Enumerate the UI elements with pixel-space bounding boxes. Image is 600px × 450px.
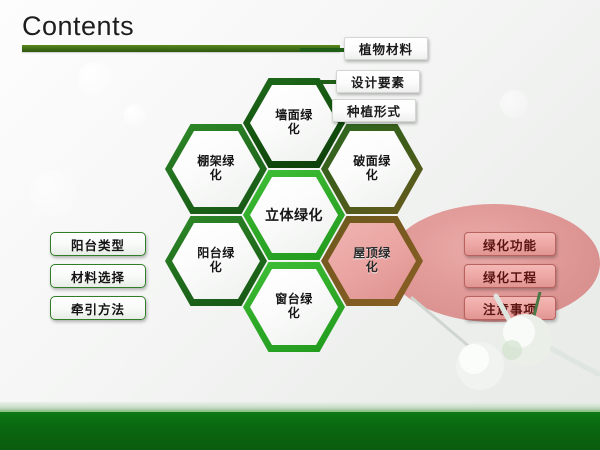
- background-bubble: [124, 104, 146, 126]
- callout-label: 阳台类型: [71, 235, 125, 254]
- hexagon-label: 破面绿化: [353, 155, 391, 183]
- footer-highlight-strip: [0, 402, 600, 410]
- hexagon-label: 棚架绿化: [197, 155, 235, 183]
- callout-box-material-selection[interactable]: 材料选择: [50, 264, 146, 288]
- callout-box-design-element[interactable]: 设计要素: [336, 70, 420, 93]
- callout-box-traction-method[interactable]: 牵引方法: [50, 296, 146, 320]
- callout-label: 牵引方法: [71, 299, 125, 318]
- callout-box-planting-form[interactable]: 种植形式: [332, 99, 416, 122]
- callout-label: 绿化功能: [483, 235, 537, 254]
- hexagon-inner: 屋顶绿化: [328, 223, 416, 299]
- hexagon-inner: 墙面绿化: [250, 85, 338, 161]
- hexagon-inner: 窗台绿化: [250, 269, 338, 345]
- callout-label: 绿化工程: [483, 267, 537, 286]
- callout-label: 设计要素: [351, 72, 405, 91]
- callout-label: 材料选择: [71, 267, 125, 286]
- hexagon-label: 立体绿化: [265, 207, 323, 223]
- callout-box-greening-project[interactable]: 绿化工程: [464, 264, 556, 288]
- hexagon-inner: 棚架绿化: [172, 131, 260, 207]
- connector-line-plant-material: [300, 48, 344, 52]
- callout-box-greening-function[interactable]: 绿化功能: [464, 232, 556, 256]
- callout-box-balcony-type[interactable]: 阳台类型: [50, 232, 146, 256]
- hexagon-inner: 阳台绿化: [172, 223, 260, 299]
- callout-box-plant-material[interactable]: 植物材料: [344, 37, 428, 60]
- callout-label: 植物材料: [359, 39, 413, 58]
- hexagon-label: 窗台绿化: [275, 293, 313, 321]
- page-title-wrap: Contents: [22, 13, 134, 40]
- callout-label: 种植形式: [347, 101, 401, 120]
- background-bubble: [30, 170, 76, 216]
- molecule-decoration: [400, 292, 600, 410]
- background-bubble: [500, 90, 528, 118]
- background-bubble: [78, 62, 112, 96]
- hexagon-label: 墙面绿化: [275, 109, 313, 137]
- hexagon-inner: 破面绿化: [328, 131, 416, 207]
- hexagon-label: 阳台绿化: [197, 247, 235, 275]
- footer-bar: [0, 410, 600, 450]
- page-title: Contents: [22, 13, 134, 40]
- hexagon-inner: 立体绿化: [250, 177, 338, 253]
- slide-canvas: Contents 墙面绿化 棚架绿化 破面绿化 立体绿化 阳台绿化: [0, 0, 600, 450]
- hexagon-label: 屋顶绿化: [353, 247, 391, 275]
- title-underline-rule: [22, 45, 340, 52]
